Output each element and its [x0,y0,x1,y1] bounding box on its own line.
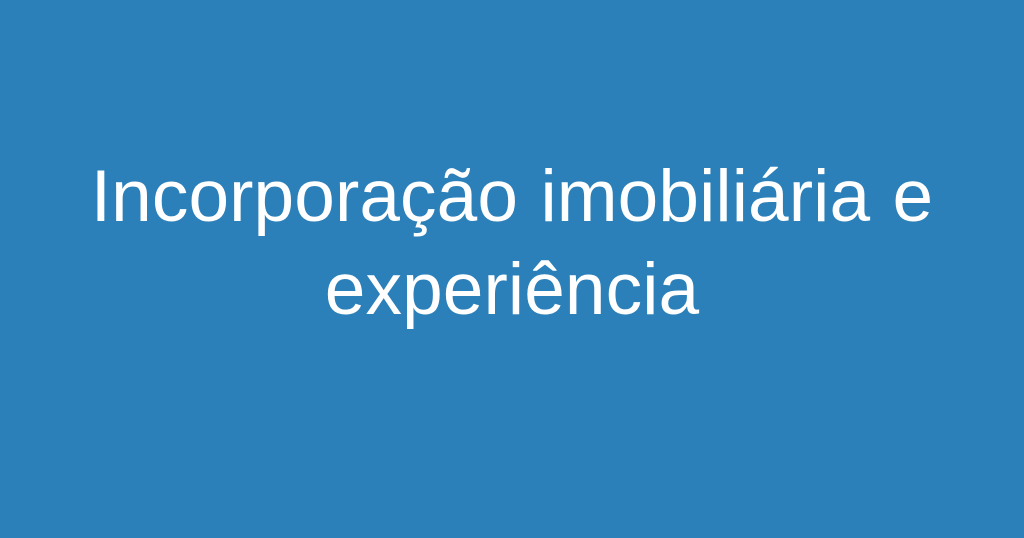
banner-content: Incorporação imobiliária e experiência [62,150,962,336]
banner-background: Incorporação imobiliária e experiência [0,0,1024,538]
banner-title: Incorporação imobiliária e experiência [62,150,962,336]
